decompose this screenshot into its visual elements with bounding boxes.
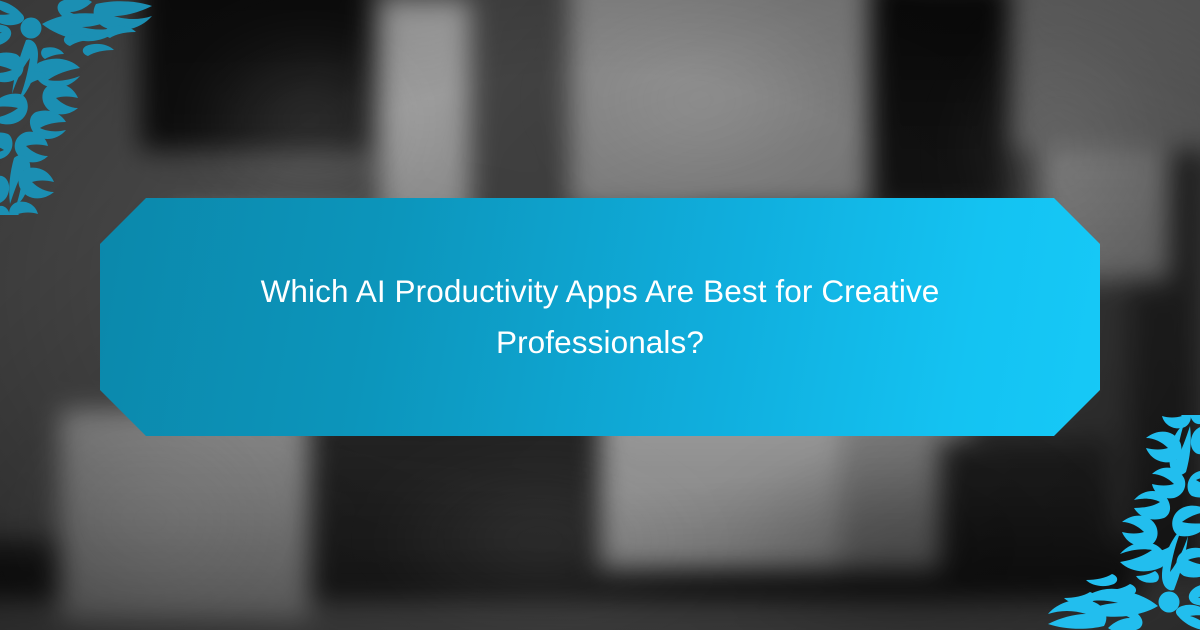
social-card: Which AI Productivity Apps Are Best for … <box>0 0 1200 630</box>
headline-banner: Which AI Productivity Apps Are Best for … <box>100 198 1100 436</box>
page-title: Which AI Productivity Apps Are Best for … <box>220 266 980 368</box>
